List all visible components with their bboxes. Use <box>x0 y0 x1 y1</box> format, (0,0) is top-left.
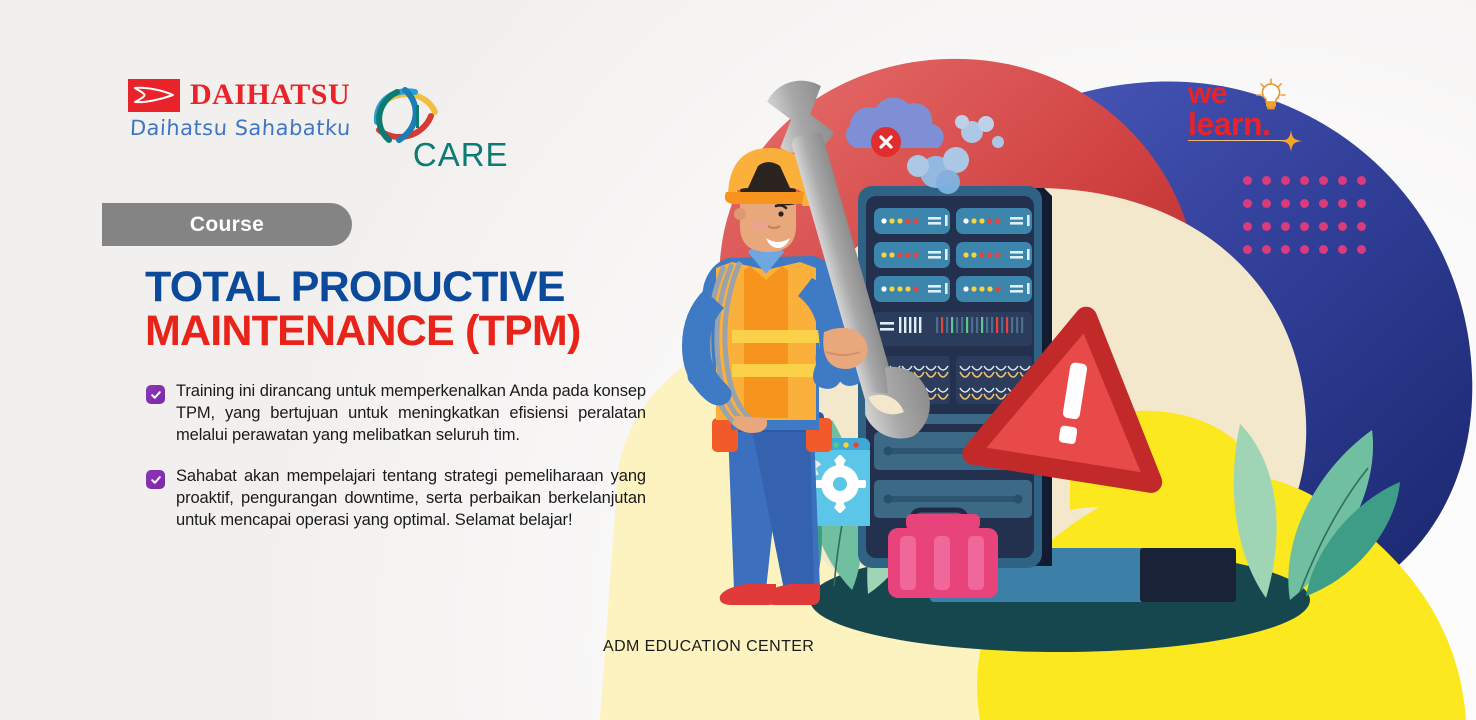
list-item: Training ini dirancang untuk memperkenal… <box>146 381 646 446</box>
grid-dot <box>1300 176 1309 185</box>
grid-dot <box>1300 245 1309 254</box>
grid-dot <box>1262 199 1271 208</box>
daihatsu-wordmark: DAIHATSU <box>190 78 350 112</box>
grid-dot <box>1243 199 1252 208</box>
daihatsu-tagline: Daihatsu Sahabatku <box>129 116 351 140</box>
grid-dot <box>1357 245 1366 254</box>
daihatsu-d-mark-icon <box>128 79 180 112</box>
grid-dot <box>1357 176 1366 185</box>
grid-dot <box>1281 176 1290 185</box>
sparkle-icon <box>1280 130 1302 157</box>
grid-dot <box>1319 176 1328 185</box>
grid-dot <box>1300 222 1309 231</box>
course-illustration <box>600 0 1476 720</box>
course-badge: Course <box>102 203 352 246</box>
list-item-text: Sahabat akan mempelajari tentang strateg… <box>176 466 646 531</box>
course-badge-label: Course <box>190 213 264 237</box>
grid-dot <box>1243 245 1252 254</box>
grid-dot <box>1319 199 1328 208</box>
grid-dot <box>1281 199 1290 208</box>
poster-canvas: DAIHATSU Daihatsu Sahabatku I CARE we le… <box>0 0 1476 720</box>
grid-dot <box>1300 199 1309 208</box>
grid-dot <box>1281 222 1290 231</box>
footer-text: ADM EDUCATION CENTER <box>603 638 814 656</box>
daihatsu-logo: DAIHATSU Daihatsu Sahabatku <box>128 78 351 140</box>
rack-status-strip <box>874 312 1032 346</box>
icare-wordmark: I CARE <box>413 98 509 174</box>
grid-dot <box>1357 199 1366 208</box>
grid-dot <box>1243 222 1252 231</box>
check-circle-icon <box>146 385 165 404</box>
icare-logo: I CARE <box>369 82 509 150</box>
list-item: Sahabat akan mempelajari tentang strateg… <box>146 466 646 531</box>
course-description-list: Training ini dirancang untuk memperkenal… <box>146 381 646 552</box>
brand-logos: DAIHATSU Daihatsu Sahabatku I CARE <box>128 78 509 150</box>
grid-dot <box>1338 245 1347 254</box>
grid-dot <box>1262 176 1271 185</box>
grid-dot <box>1319 222 1328 231</box>
page-title-line1: TOTAL PRODUCTIVE <box>145 266 765 310</box>
grid-dot <box>1262 245 1271 254</box>
welearn-logo: we learn. <box>1188 80 1338 139</box>
grid-dot <box>1281 245 1290 254</box>
grid-dot <box>1338 199 1347 208</box>
grid-dot <box>1243 176 1252 185</box>
welearn-underline <box>1188 140 1286 141</box>
grid-dot <box>1357 222 1366 231</box>
lightbulb-icon <box>1254 76 1288 117</box>
grid-dot <box>1319 245 1328 254</box>
grid-dot <box>1338 176 1347 185</box>
dot-grid-decoration <box>1243 176 1376 268</box>
page-title-line2: MAINTENANCE (TPM) <box>145 310 765 354</box>
grid-dot <box>1262 222 1271 231</box>
page-title: TOTAL PRODUCTIVE MAINTENANCE (TPM) <box>145 266 765 354</box>
check-circle-icon <box>146 470 165 489</box>
list-item-text: Training ini dirancang untuk memperkenal… <box>176 381 646 446</box>
grid-dot <box>1338 222 1347 231</box>
